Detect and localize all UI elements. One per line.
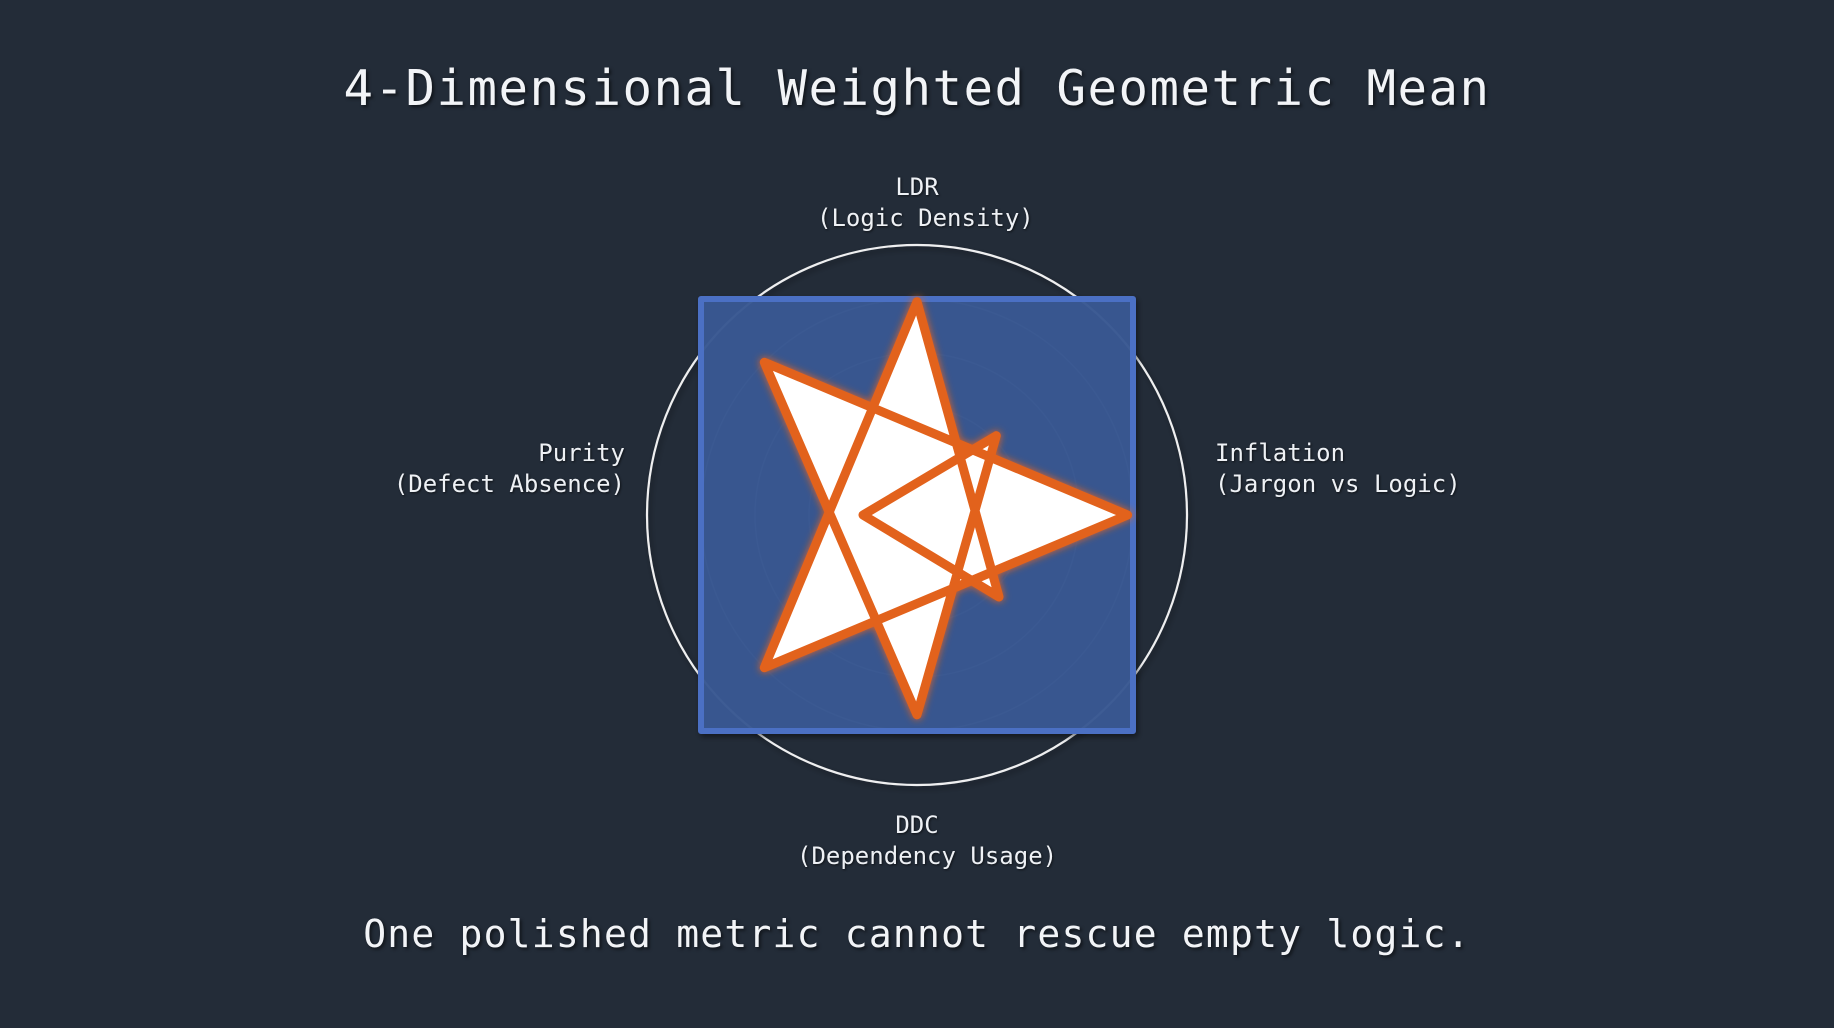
axis-label-ldr-abbr: LDR: [817, 172, 1017, 203]
axis-label-ldr-full: (Logic Density): [817, 203, 1017, 234]
axis-label-ddc: DDC (Dependency Usage): [797, 810, 1037, 872]
axis-label-inflation-abbr: Inflation: [1215, 438, 1455, 469]
axis-label-purity-full: (Defect Absence): [385, 469, 625, 500]
axis-label-purity-abbr: Purity: [385, 438, 625, 469]
axis-label-ddc-full: (Dependency Usage): [797, 841, 1037, 872]
radar-chart: LDR (Logic Density) Inflation (Jargon vs…: [0, 0, 1834, 1024]
slide-canvas: 4-Dimensional Weighted Geometric Mean: [0, 0, 1834, 1024]
axis-label-purity: Purity (Defect Absence): [385, 438, 625, 500]
axis-label-ddc-abbr: DDC: [797, 810, 1037, 841]
axis-label-ldr: LDR (Logic Density): [817, 172, 1017, 234]
caption-text: One polished metric cannot rescue empty …: [0, 912, 1834, 956]
radar-series: [701, 299, 1133, 731]
axis-label-inflation: Inflation (Jargon vs Logic): [1215, 438, 1455, 500]
axis-label-inflation-full: (Jargon vs Logic): [1215, 469, 1455, 500]
